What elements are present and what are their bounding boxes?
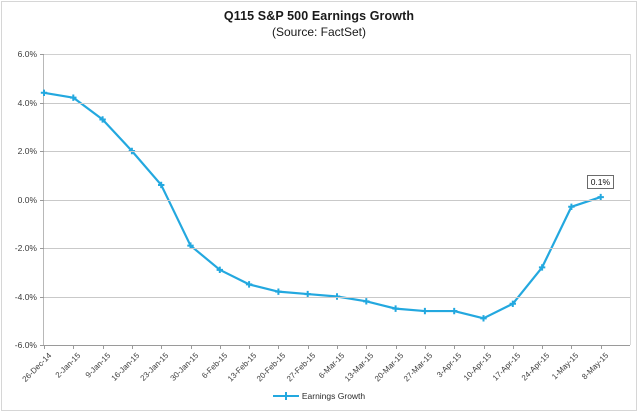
x-axis-tick bbox=[44, 345, 45, 349]
x-axis-tick bbox=[308, 345, 309, 349]
x-axis-tick bbox=[132, 345, 133, 349]
y-axis-tick bbox=[40, 151, 44, 152]
x-axis-tick bbox=[220, 345, 221, 349]
x-axis-tick bbox=[513, 345, 514, 349]
y-axis-tick bbox=[40, 248, 44, 249]
page-title: Q115 S&P 500 Earnings Growth bbox=[2, 8, 636, 24]
data-point-marker bbox=[451, 308, 457, 314]
y-axis-label: -4.0% bbox=[2, 292, 37, 302]
y-axis-tick bbox=[40, 297, 44, 298]
x-axis-tick bbox=[484, 345, 485, 349]
data-point-marker bbox=[41, 90, 47, 96]
x-axis-tick bbox=[278, 345, 279, 349]
x-axis-tick bbox=[601, 345, 602, 349]
x-axis-tick bbox=[454, 345, 455, 349]
y-axis-label: 0.0% bbox=[2, 195, 37, 205]
x-axis-tick bbox=[571, 345, 572, 349]
y-gridline bbox=[44, 248, 630, 249]
chart-title-block: Q115 S&P 500 Earnings Growth (Source: Fa… bbox=[2, 8, 636, 40]
x-axis-tick bbox=[191, 345, 192, 349]
y-gridline bbox=[44, 54, 630, 55]
y-gridline bbox=[44, 200, 630, 201]
plot-area bbox=[43, 54, 631, 345]
y-axis-label: -2.0% bbox=[2, 243, 37, 253]
y-axis-label: 4.0% bbox=[2, 98, 37, 108]
x-axis-tick bbox=[337, 345, 338, 349]
y-axis-tick bbox=[40, 103, 44, 104]
y-axis-label: 2.0% bbox=[2, 146, 37, 156]
series-line bbox=[44, 93, 601, 319]
data-point-label: 0.1% bbox=[587, 175, 614, 189]
y-axis-label: -6.0% bbox=[2, 340, 37, 350]
x-axis-tick bbox=[73, 345, 74, 349]
x-axis-tick bbox=[396, 345, 397, 349]
y-axis-label: 6.0% bbox=[2, 49, 37, 59]
x-axis-tick bbox=[249, 345, 250, 349]
data-point-marker bbox=[422, 308, 428, 314]
y-gridline bbox=[44, 103, 630, 104]
y-gridline bbox=[44, 297, 630, 298]
y-axis-tick bbox=[40, 200, 44, 201]
x-axis-tick bbox=[366, 345, 367, 349]
chart-subtitle: (Source: FactSet) bbox=[2, 24, 636, 40]
x-axis-tick bbox=[103, 345, 104, 349]
data-point-marker bbox=[392, 305, 398, 311]
data-point-marker bbox=[275, 288, 281, 294]
y-axis-tick bbox=[40, 54, 44, 55]
y-gridline bbox=[44, 151, 630, 152]
x-axis-tick bbox=[161, 345, 162, 349]
x-axis-tick bbox=[542, 345, 543, 349]
chart-container: Q115 S&P 500 Earnings Growth (Source: Fa… bbox=[1, 1, 637, 411]
x-axis-tick bbox=[425, 345, 426, 349]
data-point-marker bbox=[363, 298, 369, 304]
